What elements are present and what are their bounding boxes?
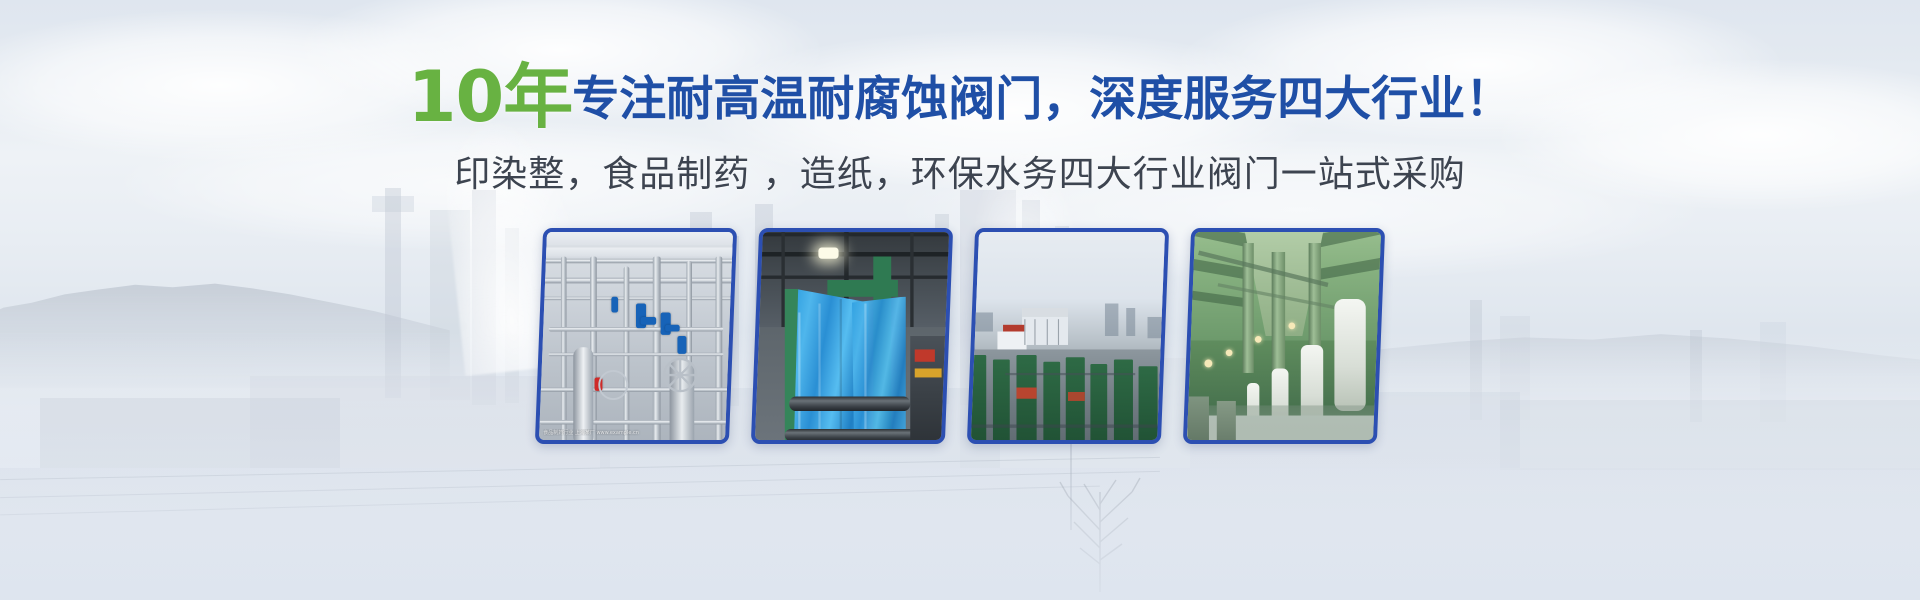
thumbnail-textile-dyeing-machine[interactable]	[751, 228, 953, 444]
hero-banner: 10年专注耐高温耐腐蚀阀门，深度服务四大行业！ 印染整，食品制药 ，造纸，环保水…	[0, 0, 1920, 600]
banner-subtitle: 印染整，食品制药 ，造纸，环保水务四大行业阀门一站式采购	[0, 145, 1920, 197]
headline-main: 专注耐高温耐腐蚀阀门，深度服务四大行业！	[572, 72, 1512, 127]
headline-years: 10年	[408, 56, 572, 138]
factory-stack	[372, 196, 414, 212]
thumbnail-paper-mill-yard[interactable]	[967, 228, 1169, 444]
thumbnail-water-treatment-corridor[interactable]	[1183, 228, 1385, 444]
banner-headline: 10年专注耐高温耐腐蚀阀门，深度服务四大行业！	[0, 62, 1920, 132]
thumbnail-pharma-piping-skid[interactable]: 食品制药行业 上海某厂 www.example.cn	[535, 228, 737, 444]
thumbnail-strip: 食品制药行业 上海某厂 www.example.cn	[0, 228, 1920, 448]
thumbnail-watermark: 食品制药行业 上海某厂 www.example.cn	[543, 429, 721, 436]
